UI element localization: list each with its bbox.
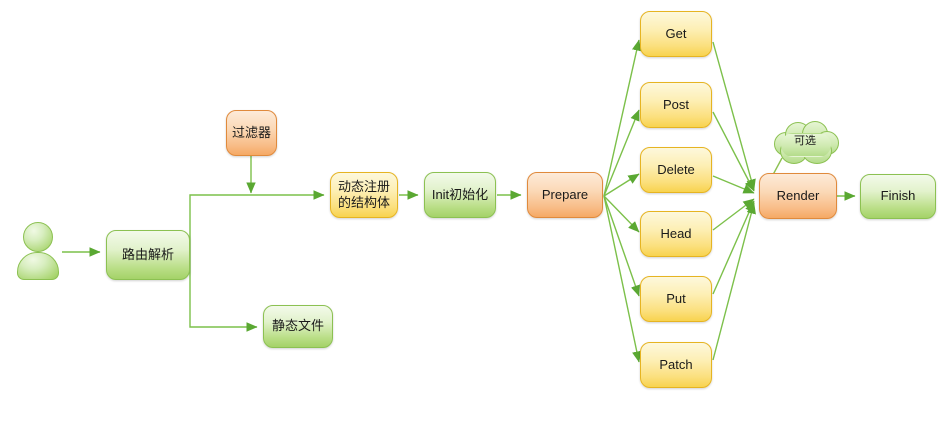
cloud-label: 可选: [772, 132, 838, 148]
actor-body-icon: [17, 252, 59, 280]
cloud-annotation-optional[interactable]: 可选: [772, 120, 838, 166]
node-put[interactable]: Put: [640, 276, 712, 322]
node-prepare[interactable]: Prepare: [527, 172, 603, 218]
edge-patch-render: [713, 203, 754, 360]
node-finish[interactable]: Finish: [860, 174, 936, 219]
actor-head-icon: [23, 222, 53, 252]
node-patch[interactable]: Patch: [640, 342, 712, 388]
node-static-file[interactable]: 静态文件: [263, 305, 333, 348]
edge-delete-render: [713, 176, 754, 193]
edge-post-render: [713, 112, 754, 191]
edge-route-struct: [190, 195, 324, 252]
flowchart-canvas: 路由解析 过滤器 静态文件 动态注册 的结构体 Init初始化 Prepare …: [0, 0, 951, 448]
node-delete[interactable]: Delete: [640, 147, 712, 193]
edge-prepare-get: [604, 40, 639, 196]
node-post[interactable]: Post: [640, 82, 712, 128]
node-filter[interactable]: 过滤器: [226, 110, 277, 156]
edge-prepare-post: [604, 110, 639, 196]
node-dynamic-struct-line2: 的结构体: [338, 195, 390, 211]
edge-prepare-put: [604, 196, 639, 296]
node-head[interactable]: Head: [640, 211, 712, 257]
node-get[interactable]: Get: [640, 11, 712, 57]
edge-route-static: [190, 252, 257, 327]
edge-prepare-patch: [604, 196, 639, 362]
node-dynamic-struct-line1: 动态注册: [338, 179, 390, 195]
node-render[interactable]: Render: [759, 173, 837, 219]
edge-get-render: [713, 42, 754, 190]
edge-put-render: [713, 201, 754, 294]
edge-prepare-head: [604, 196, 639, 232]
node-route-parse[interactable]: 路由解析: [106, 230, 190, 280]
node-init[interactable]: Init初始化: [424, 172, 496, 218]
user-actor: [14, 222, 60, 278]
edge-prepare-delete: [604, 174, 639, 196]
edge-head-render: [713, 199, 754, 230]
connector-layer: [0, 0, 951, 448]
node-dynamic-struct[interactable]: 动态注册 的结构体: [330, 172, 398, 218]
